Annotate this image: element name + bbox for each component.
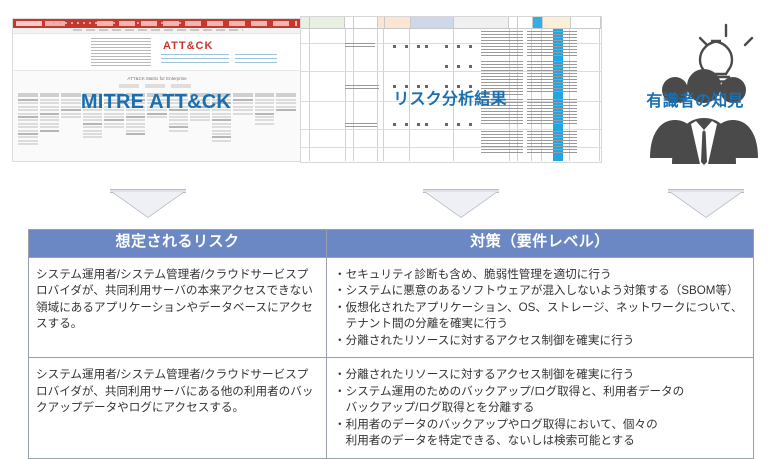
control-item: ・セキュリティ診断も含め、脆弱性管理を適切に行う [334, 267, 746, 283]
spreadsheet-header-cell [345, 17, 354, 29]
matrix-cell [83, 133, 103, 135]
spreadsheet-value-mark [405, 85, 408, 88]
spreadsheet-text-block [345, 85, 379, 90]
spreadsheet-header-cell [354, 17, 378, 29]
cell-controls: ・セキュリティ診断も含め、脆弱性管理を適切に行う・システムに悪意のあるソフトウェ… [327, 258, 754, 358]
matrix-cell [18, 133, 38, 135]
matrix-cell [83, 130, 103, 132]
source-panel-risk-analysis-spreadsheet [300, 16, 602, 163]
spreadsheet-value-mark [445, 123, 448, 126]
control-item: ・分離されたリソースに対するアクセス制御を確実に行う [334, 333, 746, 349]
spreadsheet-text-block [481, 31, 523, 57]
caption-mitre-attack: MITRE ATT&CK [12, 92, 300, 112]
spreadsheet-value-mark [469, 123, 472, 126]
matrix-cell [40, 116, 60, 118]
table-header-row: 想定されるリスク 対策（要件レベル） [29, 230, 754, 258]
mitre-matrix-title: ATT&CK Matrix for Enterprise [13, 76, 301, 81]
control-item: ・システム運用のためのバックアップ/ログ取得と、利用者データの バックアップ/ロ… [334, 384, 746, 417]
matrix-cell [83, 119, 103, 121]
matrix-cell [212, 116, 232, 118]
source-panels-row: ATT&CK ATT&CK Matrix for Enterprise MITR… [0, 0, 780, 180]
matrix-cell [190, 119, 210, 121]
spreadsheet-header-cell [411, 17, 454, 29]
matrix-cell [212, 130, 232, 132]
spreadsheet-header-cell [533, 17, 544, 29]
matrix-cell [212, 136, 232, 138]
spreadsheet-value-mark [457, 85, 460, 88]
control-list: ・セキュリティ診断も含め、脆弱性管理を適切に行う・システムに悪意のあるソフトウェ… [334, 267, 746, 349]
risk-description: システム運用者/システム管理者/クラウドサービスプロバイダが、共同利用サーバの本… [36, 267, 319, 333]
spreadsheet-value-mark [393, 85, 396, 88]
mitre-brand-text: ATT&CK [163, 40, 213, 52]
matrix-cell [212, 140, 232, 142]
spreadsheet-header-cell [378, 17, 385, 29]
experts-illustration [610, 8, 780, 174]
matrix-cell [83, 126, 103, 128]
spreadsheet-value-mark [425, 123, 428, 126]
matrix-cell [61, 116, 81, 118]
matrix-cell [40, 123, 60, 125]
matrix-cell [18, 140, 38, 142]
control-item: ・分離されたリソースに対するアクセス制御を確実に行う [334, 367, 746, 383]
spreadsheet-header-cell [571, 17, 601, 29]
matrix-cell [18, 136, 38, 138]
spreadsheet-value-mark [417, 85, 420, 88]
matrix-cell [18, 116, 38, 118]
matrix-cell [233, 113, 253, 115]
mitre-site-navbar [13, 19, 301, 28]
matrix-cell [126, 116, 146, 118]
control-item: ・システムに悪意のあるソフトウェアが混入しないよう対策する（SBOM等） [334, 283, 746, 299]
matrix-cell [18, 143, 38, 145]
control-item: ・利用者のデータのバックアップやログ取得において、個々の 利用者のデータを特定で… [334, 417, 746, 450]
table-body: システム運用者/システム管理者/クラウドサービスプロバイダが、共同利用サーバの本… [29, 258, 754, 459]
column-header-risk: 想定されるリスク [29, 230, 327, 258]
matrix-cell [104, 116, 124, 118]
mitre-nav-items [97, 21, 297, 26]
matrix-cell [18, 113, 38, 115]
matrix-cell [83, 123, 103, 125]
spreadsheet-value-mark [457, 123, 460, 126]
spreadsheet-value-mark [417, 45, 420, 48]
matrix-cell [169, 130, 189, 132]
mitre-hero-links-left [161, 54, 229, 66]
caption-risk-analysis: リスク分析結果 [300, 92, 600, 108]
spreadsheet-header-cell [509, 17, 518, 29]
matrix-cell [40, 119, 60, 121]
matrix-cell [83, 136, 103, 138]
source-panel-experts [610, 8, 780, 174]
matrix-cell [126, 119, 146, 121]
mitre-enterprise-matrix: ATT&CK Matrix for Enterprise [13, 70, 301, 162]
spreadsheet-value-mark [425, 85, 428, 88]
flow-arrow-1 [110, 190, 186, 217]
spreadsheet-header-cell [301, 17, 310, 29]
spreadsheet-text-block [481, 61, 523, 95]
matrix-cell [83, 116, 103, 118]
table-head: 想定されるリスク 対策（要件レベル） [29, 230, 754, 258]
spreadsheet-text-block [527, 31, 577, 57]
caption-experts-knowledge: 有識者の知見 [610, 94, 780, 110]
control-list: ・分離されたリソースに対するアクセス制御を確実に行う・システム運用のためのバック… [334, 367, 746, 449]
matrix-cell [126, 123, 146, 125]
spreadsheet-value-mark [405, 123, 408, 126]
spreadsheet-header-cell [310, 17, 346, 29]
matrix-cell [255, 116, 275, 118]
matrix-cell [190, 116, 210, 118]
table-row: システム運用者/システム管理者/クラウドサービスプロバイダが、共同利用サーバにあ… [29, 358, 754, 458]
matrix-cell [40, 126, 60, 128]
matrix-cell [255, 123, 275, 125]
matrix-cell [61, 113, 81, 115]
matrix-cell [255, 113, 275, 115]
matrix-cell [18, 126, 38, 128]
matrix-cell [126, 130, 146, 132]
spreadsheet-text-block [527, 131, 577, 153]
matrix-cell [169, 119, 189, 121]
matrix-cell [18, 119, 38, 121]
spreadsheet-header-cell [385, 17, 411, 29]
matrix-cell [104, 123, 124, 125]
mitre-logo-placeholder [16, 21, 42, 26]
matrix-cell [212, 123, 232, 125]
spreadsheet-value-mark [393, 45, 396, 48]
spreadsheet-value-mark [445, 65, 448, 68]
spreadsheet-value-mark [469, 85, 472, 88]
spreadsheet-value-mark [457, 45, 460, 48]
cell-risk: システム運用者/システム管理者/クラウドサービスプロバイダが、共同利用サーバにあ… [29, 358, 327, 458]
matrix-cell [104, 126, 124, 128]
mitre-hero-paragraph [91, 38, 151, 66]
spreadsheet-text-block [527, 61, 577, 93]
matrix-cell [212, 126, 232, 128]
spreadsheet-value-mark [393, 123, 396, 126]
risk-description: システム運用者/システム管理者/クラウドサービスプロバイダが、共同利用サーバにあ… [36, 367, 319, 416]
spreadsheet-value-mark [425, 45, 428, 48]
flow-arrow-2 [423, 190, 499, 217]
matrix-cell [169, 116, 189, 118]
matrix-cell [104, 119, 124, 121]
flow-arrow-3 [668, 190, 744, 217]
matrix-cell [169, 126, 189, 128]
matrix-cell [147, 116, 167, 118]
cell-controls: ・分離されたリソースに対するアクセス制御を確実に行う・システム運用のためのバック… [327, 358, 754, 458]
spreadsheet-header-cell [454, 17, 509, 29]
spreadsheet-value-mark [405, 45, 408, 48]
risk-and-controls-table: 想定されるリスク 対策（要件レベル） システム運用者/システム管理者/クラウドサ… [28, 229, 754, 459]
matrix-cell [40, 113, 60, 115]
column-header-controls: 対策（要件レベル） [327, 230, 754, 258]
matrix-cell [126, 126, 146, 128]
mitre-matrix-buttons [119, 84, 195, 88]
matrix-cell [126, 133, 146, 135]
mitre-hero-section: ATT&CK [13, 34, 301, 70]
spreadsheet-value-mark [457, 65, 460, 68]
spreadsheet-text-block [345, 43, 375, 48]
spreadsheet-value-mark [445, 45, 448, 48]
spreadsheet-header-row [301, 17, 601, 29]
spreadsheet-value-mark [469, 45, 472, 48]
spreadsheet-header-cell [543, 17, 571, 29]
control-item: ・仮想化されたアプリケーション、OS、ストレージ、ネットワークについて、 テナン… [334, 300, 746, 333]
spreadsheet-value-mark [417, 123, 420, 126]
matrix-cell [255, 119, 275, 121]
matrix-cell [18, 130, 38, 132]
cell-risk: システム運用者/システム管理者/クラウドサービスプロバイダが、共同利用サーバの本… [29, 258, 327, 358]
spreadsheet-text-block [481, 131, 523, 153]
matrix-cell [40, 130, 60, 132]
matrix-cell [18, 123, 38, 125]
matrix-cell [212, 119, 232, 121]
spreadsheet-header-cell [518, 17, 532, 29]
source-panel-mitre-screenshot: ATT&CK ATT&CK Matrix for Enterprise [12, 18, 302, 162]
spreadsheet-value-mark [469, 65, 472, 68]
table-row: システム運用者/システム管理者/クラウドサービスプロバイダが、共同利用サーバの本… [29, 258, 754, 358]
spreadsheet-value-mark [445, 85, 448, 88]
spreadsheet-text-block [345, 123, 377, 128]
matrix-cell [169, 123, 189, 125]
matrix-cell [212, 133, 232, 135]
mitre-hero-links-right [235, 54, 277, 66]
